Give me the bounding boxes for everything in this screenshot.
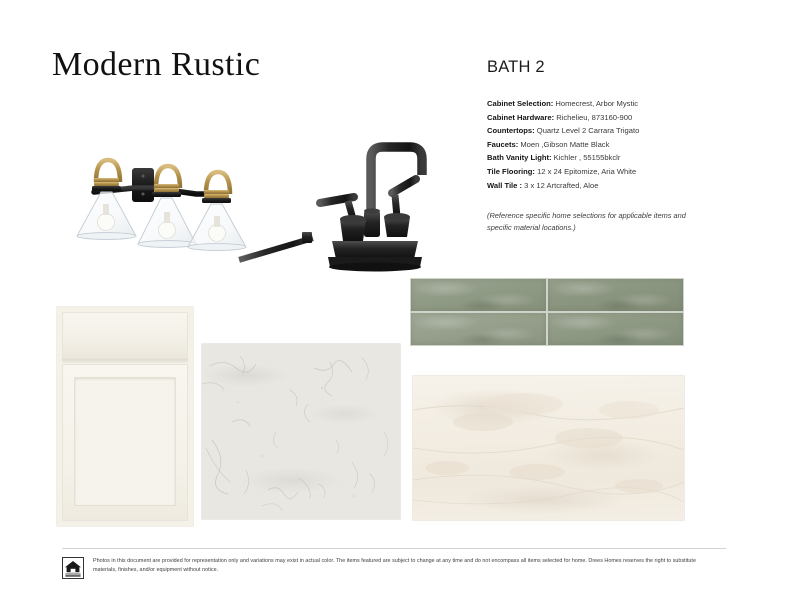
specification-block: BATH 2 Cabinet Selection: Homecrest, Arb… [487, 58, 737, 233]
footer: Photos in this document are provided for… [62, 557, 726, 579]
spec-row-bath-vanity-light: Bath Vanity Light: Kichler , 55155bkclr [487, 151, 737, 165]
spec-reference-note: (Reference specific home selections for … [487, 210, 709, 233]
spec-label: Cabinet Selection: [487, 99, 553, 108]
spec-label: Cabinet Hardware: [487, 113, 554, 122]
equal-housing-opportunity-icon [62, 557, 84, 579]
spec-value: Quartz Level 2 Carrara Trigato [535, 126, 640, 135]
spec-label: Faucets: [487, 140, 518, 149]
faucet-image [232, 133, 432, 278]
spec-value: 12 x 24 Epitomize, Aria White [535, 167, 636, 176]
wall-tile-piece [548, 313, 683, 345]
spec-label: Tile Flooring: [487, 167, 535, 176]
spec-row-cabinet-selection: Cabinet Selection: Homecrest, Arbor Myst… [487, 97, 737, 111]
page-title: Modern Rustic [52, 46, 260, 84]
spec-value: 3 x 12 Artcrafted, Aloe [522, 181, 598, 190]
spec-label: Wall Tile : [487, 181, 522, 190]
footer-disclaimer-text: Photos in this document are provided for… [93, 557, 713, 574]
spec-value: Moen ,Gibson Matte Black [518, 140, 609, 149]
cabinet-door-front [62, 364, 188, 521]
wall-tile-piece [411, 313, 546, 345]
spec-label: Bath Vanity Light: [487, 153, 552, 162]
swatch-quartz-countertop [202, 344, 400, 519]
room-name-heading: BATH 2 [487, 58, 737, 77]
spec-row-tile-flooring: Tile Flooring: 12 x 24 Epitomize, Aria W… [487, 165, 737, 179]
cabinet-drawer-front [62, 312, 188, 359]
spec-value: Homecrest, Arbor Mystic [553, 99, 638, 108]
towel-bar-shape [242, 232, 312, 278]
spec-value: Kichler , 55155bkclr [552, 153, 621, 162]
design-selection-board: Modern Rustic BATH 2 Cabinet Selection: … [0, 0, 792, 612]
cabinet-recessed-panel [74, 377, 176, 506]
spec-row-wall-tile: Wall Tile : 3 x 12 Artcrafted, Aloe [487, 179, 737, 193]
swatch-wall-tile-aloe [410, 278, 684, 346]
spec-row-cabinet-hardware: Cabinet Hardware: Richelieu, 873160-900 [487, 111, 737, 125]
swatch-floor-tile-aria-white [413, 376, 684, 520]
wall-tile-piece [548, 279, 683, 311]
spec-row-faucets: Faucets: Moen ,Gibson Matte Black [487, 138, 737, 152]
spec-row-countertops: Countertops: Quartz Level 2 Carrara Trig… [487, 124, 737, 138]
wall-tile-piece [411, 279, 546, 311]
swatch-cabinet-door [57, 307, 193, 526]
cabinet-reveal [62, 359, 188, 363]
footer-divider [62, 548, 726, 549]
spec-value: Richelieu, 873160-900 [554, 113, 632, 122]
spec-label: Countertops: [487, 126, 535, 135]
